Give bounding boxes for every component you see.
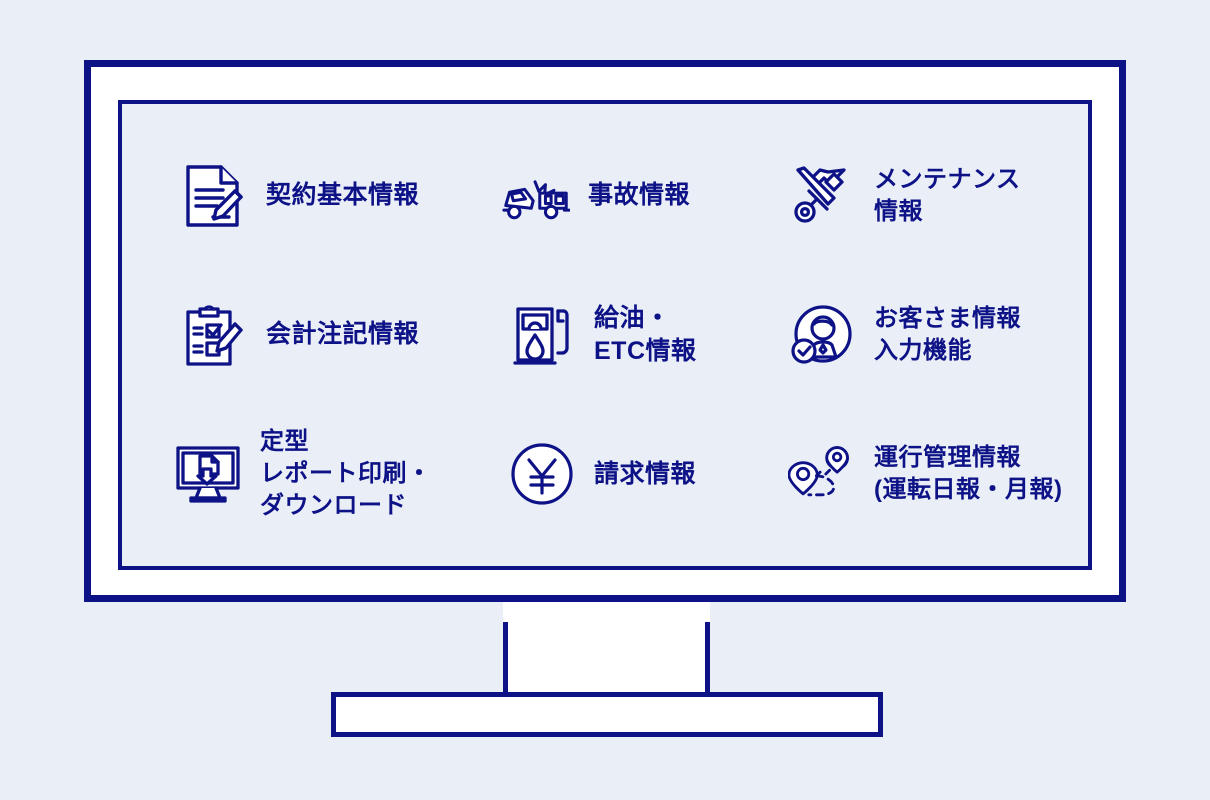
feature-item-billing-info[interactable]: 請求情報 [502, 440, 780, 508]
feature-label: 事故情報 [588, 179, 690, 212]
feature-item-customer-info-input[interactable]: お客さま情報 入力機能 [780, 301, 1088, 369]
wrench-screwdriver-icon [788, 162, 856, 230]
feature-label: 会計注記情報 [266, 318, 419, 351]
user-check-icon [788, 301, 856, 369]
feature-grid: 契約基本情報 [122, 104, 1088, 566]
feature-item-contract-basic-info[interactable]: 契約基本情報 [152, 162, 502, 230]
feature-item-standard-report-print-download[interactable]: 定型 レポート印刷・ ダウンロード [152, 426, 502, 522]
yen-circle-icon [508, 440, 576, 508]
feature-label: 請求情報 [594, 458, 696, 491]
fuel-pump-icon [508, 301, 576, 369]
feature-label: 給油・ ETC情報 [594, 302, 697, 369]
monitor-screen: 契約基本情報 [118, 100, 1092, 570]
feature-label: メンテナンス 情報 [874, 164, 1021, 228]
feature-item-accident-info[interactable]: 事故情報 [502, 162, 780, 230]
feature-label: 定型 レポート印刷・ ダウンロード [260, 426, 432, 522]
feature-item-refueling-etc-info[interactable]: 給油・ ETC情報 [502, 301, 780, 369]
monitor-download-icon [174, 440, 242, 508]
illustration-canvas: 契約基本情報 [0, 0, 1210, 800]
monitor-frame: 契約基本情報 [84, 60, 1126, 602]
feature-label: 契約基本情報 [266, 179, 419, 212]
car-crash-icon [502, 162, 570, 230]
feature-label: お客さま情報 入力機能 [874, 303, 1021, 367]
feature-item-operation-management-info[interactable]: 運行管理情報 (運転日報・月報) [780, 440, 1088, 508]
monitor-stand-neck [503, 602, 710, 695]
document-pencil-icon [180, 162, 248, 230]
feature-item-accounting-notes-info[interactable]: 会計注記情報 [152, 301, 502, 369]
clipboard-pencil-icon [180, 301, 248, 369]
feature-label: 運行管理情報 (運転日報・月報) [874, 442, 1062, 506]
map-route-pins-icon [788, 440, 856, 508]
feature-item-maintenance-info[interactable]: メンテナンス 情報 [780, 162, 1088, 230]
monitor-stand-base [331, 692, 883, 737]
